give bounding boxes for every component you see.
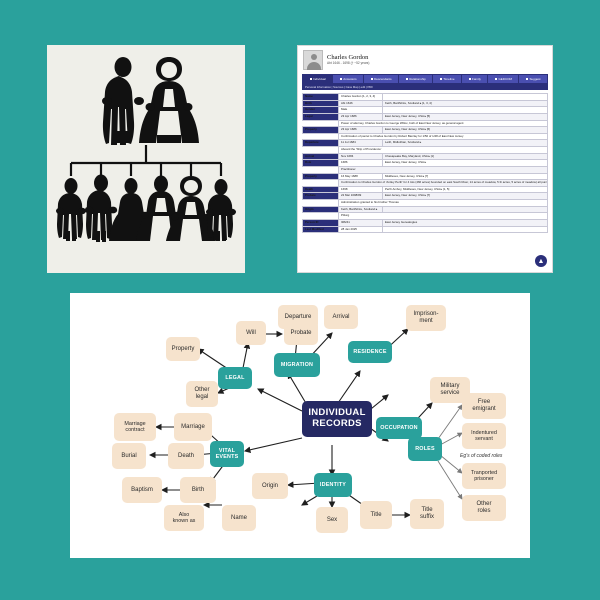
tab-label: Individual bbox=[313, 77, 326, 81]
genealogy-record-panel: Charles Gordon Abt 1646 - 1698 († ~52 ye… bbox=[297, 45, 553, 273]
person-dates: Abt 1646 - 1698 († ~52 years) bbox=[327, 62, 369, 66]
leaf-marriage-contract[interactable]: Marriage contract bbox=[114, 413, 156, 441]
father-silhouette bbox=[102, 57, 144, 145]
row-value-primary: 28 Jan 2025 bbox=[339, 226, 383, 233]
row-value-secondary: East Jersey, New Jersey, USA ▸ [6] bbox=[383, 127, 548, 134]
branch-residence[interactable]: RESIDENCE bbox=[348, 341, 392, 363]
table-row: Practitioner bbox=[303, 166, 548, 173]
node-label-line2: RECORDS bbox=[312, 419, 362, 430]
table-row: NameCharles Gordon [1, 2, 3, 4] bbox=[303, 94, 548, 101]
row-value-secondary: Keith, Banffshire, Scotland ▸ [1, 3, 4] bbox=[383, 100, 548, 107]
tab-label: Relationship bbox=[409, 77, 426, 81]
person-name: Charles Gordon bbox=[327, 54, 369, 61]
row-value-secondary: Leith, Midlothian, Scotland ▸ bbox=[383, 140, 548, 147]
row-value-secondary bbox=[383, 226, 548, 233]
leaf-title-suffix[interactable]: Title suffix bbox=[410, 499, 444, 529]
tab-ancestors[interactable]: Ancestors bbox=[333, 75, 363, 83]
row-value-secondary bbox=[383, 206, 548, 213]
leaf-other-roles[interactable]: Other roles bbox=[462, 495, 506, 521]
tree-connectors bbox=[71, 145, 221, 176]
timeline-icon bbox=[440, 78, 443, 81]
node-label-line1: Other bbox=[476, 501, 491, 508]
leaf-origin[interactable]: Origin bbox=[252, 473, 288, 499]
node-label-line1: Military bbox=[441, 383, 460, 390]
row-label: Origin bbox=[303, 206, 339, 213]
tab-label: Ancestors bbox=[343, 77, 356, 81]
table-row: OriginKeith, Banffshire, Scotland ▸ bbox=[303, 206, 548, 213]
tab-label: Descendants bbox=[374, 77, 392, 81]
tab-label: Suggest bbox=[529, 77, 540, 81]
row-label: Role bbox=[303, 160, 339, 167]
branch-identity[interactable]: IDENTITY bbox=[314, 473, 352, 497]
table-row: Person IDI38241East Jersey Genealogies bbox=[303, 219, 548, 226]
node-label-line2: legal bbox=[196, 394, 209, 401]
row-label: Last Modified bbox=[303, 226, 339, 233]
table-row: Death1698Perth Amboy, Middlesex, New Jer… bbox=[303, 186, 548, 193]
table-row: Administration granted to his brother Th… bbox=[303, 200, 548, 207]
son-silhouette-1 bbox=[56, 178, 86, 241]
table-row: Last Modified28 Jan 2025 bbox=[303, 226, 548, 233]
leaf-title[interactable]: Title bbox=[360, 501, 392, 529]
table-row: BirthAbt 1646Keith, Banffshire, Scotland… bbox=[303, 100, 548, 107]
table-row: Confirmation to Charles Gordon of 'Antle… bbox=[303, 180, 548, 187]
row-label: Legal bbox=[303, 113, 339, 120]
row-note: Pitlurg bbox=[339, 213, 548, 220]
row-label: Name bbox=[303, 94, 339, 101]
leaf-will[interactable]: Will bbox=[236, 321, 266, 345]
record-facts-table: NameCharles Gordon [1, 2, 3, 4]BirthAbt … bbox=[302, 93, 548, 233]
record-header: Charles Gordon Abt 1646 - 1698 († ~52 ye… bbox=[298, 46, 552, 72]
leaf-free-emigrant[interactable]: Free emigrant bbox=[462, 393, 506, 419]
row-label: Property bbox=[303, 127, 339, 134]
leaf-marriage[interactable]: Marriage bbox=[174, 413, 212, 441]
son-silhouette-3 bbox=[206, 179, 236, 241]
leaf-name[interactable]: Name bbox=[222, 505, 256, 531]
node-label-line2: suffix bbox=[420, 514, 434, 521]
row-note: Power of attorney, Charles Gordon to Geo… bbox=[339, 120, 548, 127]
row-value-secondary: Chesapeake Bay, Maryland, USA ▸ [1] bbox=[383, 153, 548, 160]
row-value-primary: 23 Apr 1686 bbox=[339, 127, 383, 134]
ancestors-icon bbox=[340, 78, 343, 81]
row-value-primary: 23 Apr 1686 bbox=[339, 113, 383, 120]
branch-migration[interactable]: MIGRATION bbox=[274, 353, 320, 377]
leaf-imprisonment[interactable]: Imprison- ment bbox=[406, 305, 446, 331]
row-note: Confirmation to Charles Gordon of 'Antle… bbox=[339, 180, 548, 187]
leaf-indentured-servant[interactable]: Indentured servant bbox=[462, 423, 506, 449]
table-row: Property16 May 1688Middlesex, New Jersey… bbox=[303, 173, 548, 180]
family-tree-svg bbox=[47, 45, 245, 273]
table-row: Legal23 Apr 1686East Jersey, New Jersey,… bbox=[303, 113, 548, 120]
tab-timeline[interactable]: Timeline bbox=[433, 75, 461, 83]
gedcom-icon bbox=[495, 78, 498, 81]
table-row: Role1686East Jersey, New Jersey, USA ▸ bbox=[303, 160, 548, 167]
coded-roles-caption: Eg's of coded roles bbox=[460, 453, 502, 459]
table-row: Aboard the 'Ship of Providence' bbox=[303, 147, 548, 154]
leaf-burial[interactable]: Burial bbox=[112, 443, 146, 469]
node-label-line2: roles bbox=[477, 508, 490, 515]
row-value-primary: Nov 1684 bbox=[339, 153, 383, 160]
row-label bbox=[303, 200, 339, 207]
row-value-primary: 11 Jul 1684 bbox=[339, 140, 383, 147]
row-value-primary: Charles Gordon [1, 2, 3, 4] bbox=[339, 94, 383, 101]
row-label: Gender bbox=[303, 107, 339, 114]
row-label: Birth bbox=[303, 100, 339, 107]
row-label: Departure bbox=[303, 140, 339, 147]
row-value-secondary: Middlesex, New Jersey, USA ▸ [7] bbox=[383, 173, 548, 180]
leaf-also-known-as[interactable]: Also known as bbox=[164, 505, 204, 531]
node-label-line2: emigrant bbox=[472, 406, 495, 413]
tab-label: Family bbox=[472, 77, 481, 81]
branch-vital-events[interactable]: VITAL EVENTS bbox=[210, 441, 244, 467]
node-label-line2: servant bbox=[475, 436, 493, 442]
record-tab-bar[interactable]: IndividualAncestorsDescendantsRelationsh… bbox=[302, 74, 548, 83]
person-avatar-icon bbox=[303, 50, 323, 70]
row-value-secondary: East Jersey, New Jersey, USA ▸ bbox=[383, 160, 548, 167]
row-value-primary: I38241 bbox=[339, 219, 383, 226]
row-label bbox=[303, 166, 339, 173]
node-label-line2: contract bbox=[125, 427, 144, 433]
descendants-icon bbox=[371, 78, 374, 81]
node-label-line2: prisoner bbox=[474, 476, 493, 482]
tab-descendants[interactable]: Descendants bbox=[364, 75, 398, 83]
row-label bbox=[303, 120, 339, 127]
row-label bbox=[303, 180, 339, 187]
record-subnav[interactable]: Personal Information | Sources | Cave Ma… bbox=[302, 83, 548, 90]
node-label-line2: EVENTS bbox=[216, 454, 239, 460]
row-value-primary: Keith, Banffshire, Scotland ▸ bbox=[339, 206, 383, 213]
relationship-icon bbox=[406, 78, 409, 81]
row-value-primary: Abt 1646 bbox=[339, 100, 383, 107]
leaf-sex[interactable]: Sex bbox=[316, 507, 348, 533]
table-row: Departure11 Jul 1684Leith, Midlothian, S… bbox=[303, 140, 548, 147]
table-row: GenderMale bbox=[303, 107, 548, 114]
leaf-departure[interactable]: Departure bbox=[278, 305, 318, 329]
branch-roles[interactable]: ROLES bbox=[408, 437, 442, 461]
table-row: Property23 Apr 1686East Jersey, New Jers… bbox=[303, 127, 548, 134]
row-value-secondary: East Jersey, New Jersey, USA ▸ [7] bbox=[383, 193, 548, 200]
row-value-secondary bbox=[383, 107, 548, 114]
tab-label: GEDCOM bbox=[498, 77, 512, 81]
row-label bbox=[303, 133, 339, 140]
table-row: Pitlurg bbox=[303, 213, 548, 220]
row-label: Arrival bbox=[303, 153, 339, 160]
branch-occupation[interactable]: OCCUPATION bbox=[376, 417, 422, 439]
row-label bbox=[303, 147, 339, 154]
node-label-line2: service bbox=[440, 390, 459, 397]
row-value-primary: 16 May 1688 bbox=[339, 173, 383, 180]
leaf-arrival[interactable]: Arrival bbox=[324, 305, 358, 329]
row-value-secondary: Perth Amboy, Middlesex, New Jersey, USA … bbox=[383, 186, 548, 193]
row-note: Administration granted to his brother Th… bbox=[339, 200, 548, 207]
row-label: Property bbox=[303, 173, 339, 180]
node-label-line1: Title bbox=[421, 507, 432, 514]
suggest-icon bbox=[526, 78, 529, 81]
family-tree-image-panel bbox=[47, 45, 245, 273]
tab-individual[interactable]: Individual bbox=[303, 75, 332, 83]
row-note: Practitioner bbox=[339, 166, 548, 173]
leaf-death[interactable]: Death bbox=[168, 443, 204, 469]
table-row: Power of attorney, Charles Gordon to Geo… bbox=[303, 120, 548, 127]
leaf-transported-prisoner[interactable]: Tranported prisoner bbox=[462, 463, 506, 489]
mind-map-panel: INDIVIDUAL RECORDS LEGAL MIGRATION RESID… bbox=[70, 293, 530, 558]
individual-icon bbox=[310, 78, 313, 81]
row-label bbox=[303, 213, 339, 220]
mother-silhouette bbox=[139, 57, 199, 143]
node-label-line2: ment bbox=[419, 318, 432, 325]
leaf-property[interactable]: Property bbox=[166, 337, 200, 361]
person-identity-block: Charles Gordon Abt 1646 - 1698 († ~52 ye… bbox=[327, 54, 369, 66]
tab-relationship[interactable]: Relationship bbox=[399, 75, 432, 83]
row-value-secondary: East Jersey Genealogies bbox=[383, 219, 548, 226]
node-label-line1: Free bbox=[478, 399, 490, 406]
leaf-baptism[interactable]: Baptism bbox=[122, 477, 162, 503]
node-label-line2: known as bbox=[173, 518, 196, 524]
row-value-secondary: East Jersey, New Jersey, USA ▸ [5] bbox=[383, 113, 548, 120]
node-label-line1: Imprison- bbox=[413, 311, 438, 318]
children-silhouettes bbox=[56, 175, 236, 243]
tab-suggest[interactable]: Suggest bbox=[519, 75, 547, 83]
row-value-secondary bbox=[383, 94, 548, 101]
table-row: Confirmation of parcel to Charles Gordon… bbox=[303, 133, 548, 140]
node-individual-records[interactable]: INDIVIDUAL RECORDS bbox=[302, 401, 372, 437]
row-value-primary: Male bbox=[339, 107, 383, 114]
row-value-primary: 1698 bbox=[339, 186, 383, 193]
scroll-top-icon[interactable]: ▲ bbox=[535, 255, 547, 267]
leaf-other-legal[interactable]: Other legal bbox=[186, 381, 218, 407]
tab-label: Timeline bbox=[443, 77, 454, 81]
row-label: Death bbox=[303, 186, 339, 193]
row-note: Aboard the 'Ship of Providence' bbox=[339, 147, 548, 154]
row-label: Probate bbox=[303, 193, 339, 200]
node-label-line1: Other bbox=[194, 387, 209, 394]
row-value-primary: 1686 bbox=[339, 160, 383, 167]
row-note: Confirmation of parcel to Charles Gordon… bbox=[339, 133, 548, 140]
row-value-primary: 22 Mar 1698/99 bbox=[339, 193, 383, 200]
family-icon bbox=[469, 78, 472, 81]
tab-gedcom[interactable]: GEDCOM bbox=[488, 75, 518, 83]
table-row: ArrivalNov 1684Chesapeake Bay, Maryland,… bbox=[303, 153, 548, 160]
row-label: Person ID bbox=[303, 219, 339, 226]
tab-family[interactable]: Family bbox=[462, 75, 487, 83]
branch-legal[interactable]: LEGAL bbox=[218, 367, 252, 389]
table-row: Probate22 Mar 1698/99East Jersey, New Je… bbox=[303, 193, 548, 200]
leaf-birth[interactable]: Birth bbox=[180, 477, 216, 503]
